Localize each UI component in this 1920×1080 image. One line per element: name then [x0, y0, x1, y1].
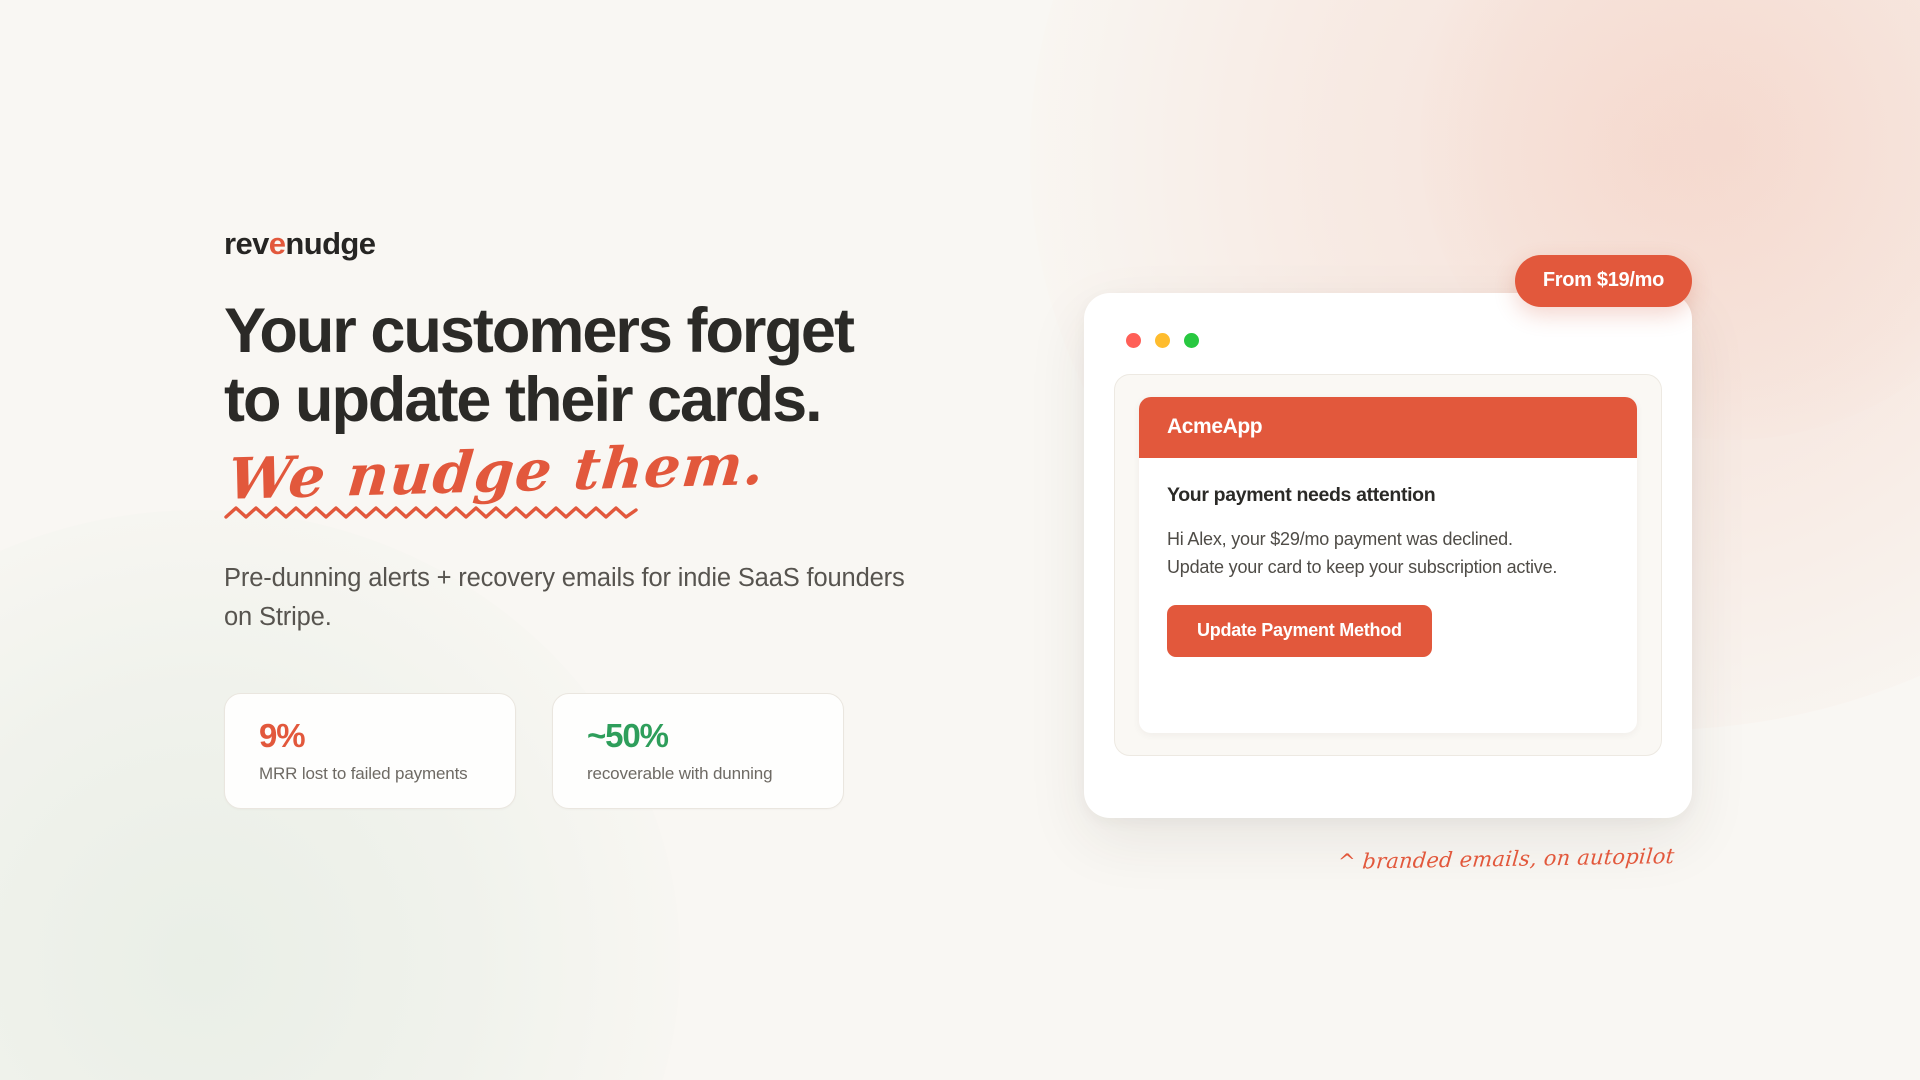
stat-card-recoverable: ~50% recoverable with dunning	[552, 693, 844, 809]
hero-copy-column: revenudge Your customers forget to updat…	[224, 228, 1004, 809]
brand-logo-accent-letter: e	[269, 226, 286, 261]
price-badge[interactable]: From $19/mo	[1515, 255, 1692, 307]
headline-script-line: We nudge them.	[221, 432, 768, 513]
email-card-header: AcmeApp	[1139, 397, 1637, 458]
hero-subheadline: Pre-dunning alerts + recovery emails for…	[224, 559, 924, 637]
headline-script-wrapper: We nudge them.	[224, 447, 763, 513]
email-subject: Your payment needs attention	[1167, 484, 1609, 507]
page-title: Your customers forget to update their ca…	[224, 297, 1004, 435]
stat-label: recoverable with dunning	[587, 764, 843, 784]
email-message: Hi Alex, your $29/mo payment was decline…	[1167, 526, 1567, 581]
update-payment-method-button[interactable]: Update Payment Method	[1167, 605, 1432, 657]
stat-label: MRR lost to failed payments	[259, 764, 515, 784]
brand-logo-prefix: rev	[224, 226, 269, 261]
showcase-caption: ^ branded emails, on autopilot	[1337, 844, 1676, 874]
stats-row: 9% MRR lost to failed payments ~50% reco…	[224, 693, 1004, 809]
headline-line-1: Your customers forget	[224, 296, 853, 366]
brand-logo-suffix: nudge	[285, 226, 375, 261]
email-card: AcmeApp Your payment needs attention Hi …	[1139, 397, 1637, 733]
email-card-body: Your payment needs attention Hi Alex, yo…	[1139, 458, 1637, 657]
browser-window-mockup: AcmeApp Your payment needs attention Hi …	[1084, 293, 1692, 818]
email-preview-panel: AcmeApp Your payment needs attention Hi …	[1114, 374, 1662, 756]
hero-showcase-column: From $19/mo AcmeApp Your payment needs a…	[1078, 255, 1738, 895]
window-close-icon[interactable]	[1126, 333, 1141, 348]
squiggle-underline-icon	[224, 505, 639, 525]
window-maximize-icon[interactable]	[1184, 333, 1199, 348]
window-controls	[1114, 321, 1662, 348]
window-minimize-icon[interactable]	[1155, 333, 1170, 348]
stat-card-mrr-lost: 9% MRR lost to failed payments	[224, 693, 516, 809]
headline-line-2: to update their cards.	[224, 365, 821, 435]
brand-logo[interactable]: revenudge	[224, 228, 1004, 259]
stat-value: 9%	[259, 719, 515, 754]
hero-section: revenudge Your customers forget to updat…	[0, 0, 1920, 1080]
email-brand-name: AcmeApp	[1167, 415, 1609, 439]
stat-value: ~50%	[587, 719, 843, 754]
